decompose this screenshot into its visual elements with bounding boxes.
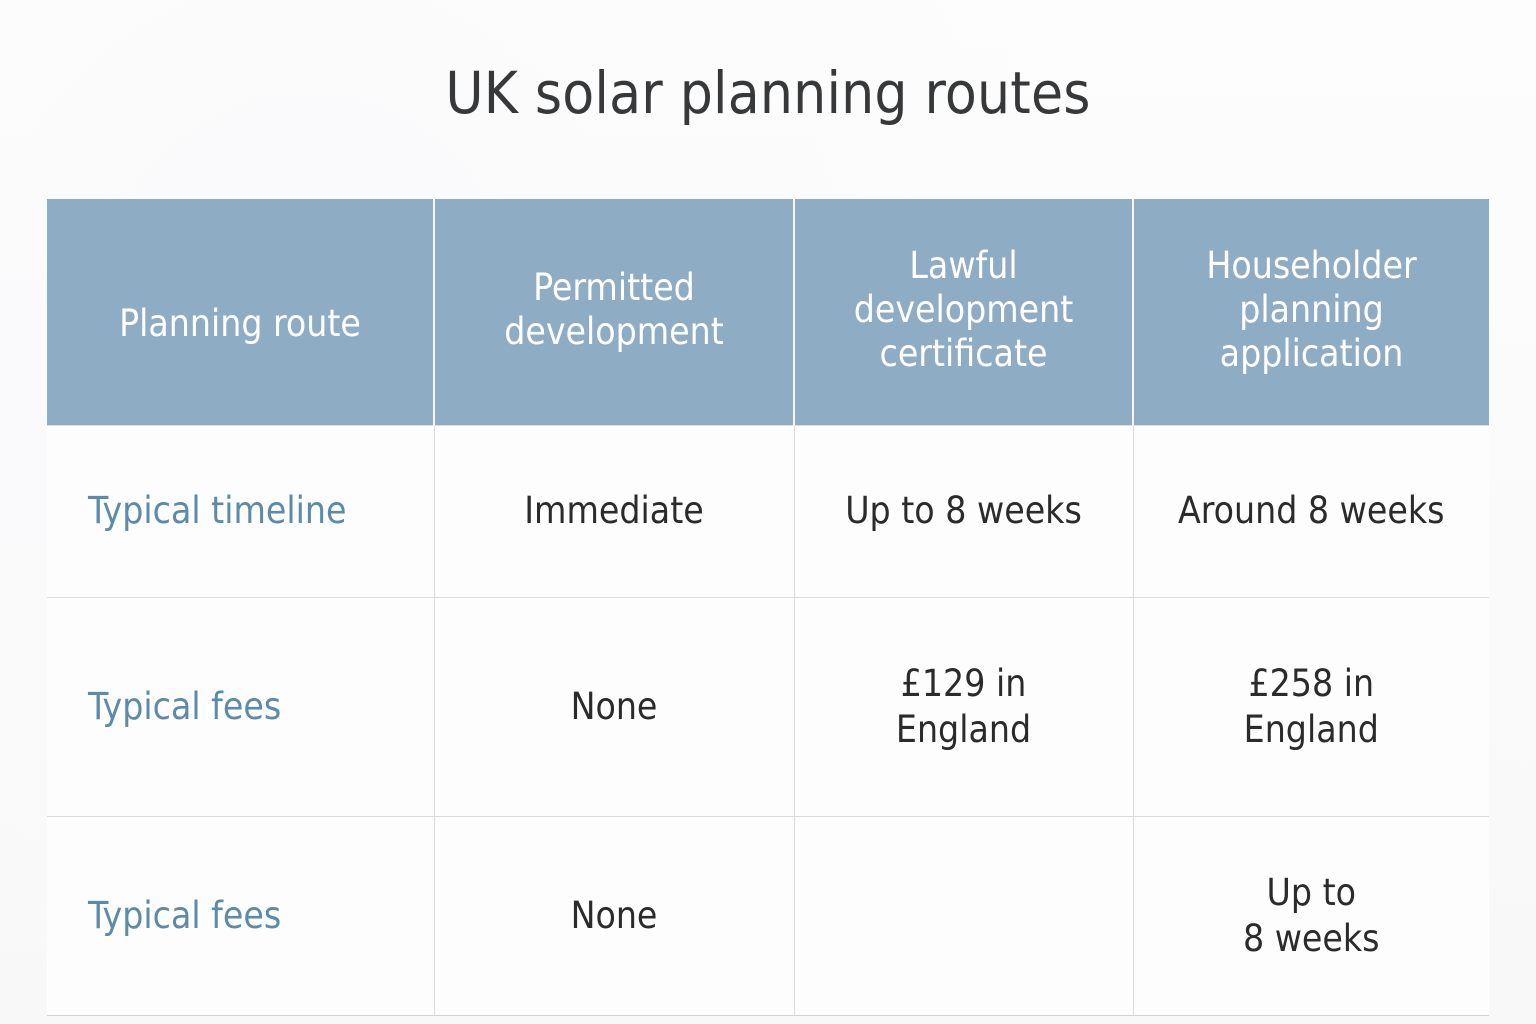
cell-fees2-permitted-development: None <box>434 816 794 1015</box>
cell-line: Up to <box>1146 870 1478 915</box>
column-header-line: Householder <box>1148 244 1475 288</box>
cell-line: 8 weeks <box>1146 916 1478 961</box>
column-header-line: development <box>809 288 1118 332</box>
cell-fees-permitted-development: None <box>434 597 794 816</box>
column-header-line: Lawful <box>809 244 1118 288</box>
cell-fees2-lawful-development-certificate-empty <box>794 816 1133 1015</box>
cell-timeline-householder-planning-application: Around 8 weeks <box>1133 425 1489 597</box>
cell-line: Around 8 weeks <box>1146 488 1478 533</box>
cell-line: £129 in <box>807 661 1121 706</box>
row-label-typical-fees-1: Typical fees <box>47 597 434 816</box>
column-header-line: development <box>449 310 779 354</box>
column-header-line: Permitted <box>449 266 779 310</box>
column-header-line: certificate <box>809 332 1118 376</box>
table-body: Typical timeline Immediate Up to 8 weeks… <box>47 425 1489 1015</box>
column-header-householder-planning-application: Householder planning application <box>1133 199 1489 425</box>
planning-routes-table-container: Planning route Permitted development Law… <box>47 199 1489 965</box>
column-header-line: Planning route <box>61 302 419 346</box>
cell-line: None <box>447 684 782 729</box>
cell-fees2-householder-planning-application: Up to 8 weeks <box>1133 816 1489 1015</box>
column-header-planning-route: Planning route <box>47 199 434 425</box>
cell-line: None <box>447 893 782 938</box>
cell-timeline-permitted-development: Immediate <box>434 425 794 597</box>
table-header-row: Planning route Permitted development Law… <box>47 199 1489 425</box>
column-header-line: application <box>1148 332 1475 376</box>
page-title: UK solar planning routes <box>0 62 1536 126</box>
cell-timeline-lawful-development-certificate: Up to 8 weeks <box>794 425 1133 597</box>
table-row: Typical fees None Up to 8 weeks <box>47 816 1489 1015</box>
cell-line: England <box>1146 707 1478 752</box>
column-header-line: planning <box>1148 288 1475 332</box>
planning-routes-table: Planning route Permitted development Law… <box>47 199 1489 1016</box>
column-header-permitted-development: Permitted development <box>434 199 794 425</box>
cell-line: £258 in <box>1146 661 1478 706</box>
column-header-lawful-development-certificate: Lawful development certificate <box>794 199 1133 425</box>
table-header: Planning route Permitted development Law… <box>47 199 1489 425</box>
table-row: Typical timeline Immediate Up to 8 weeks… <box>47 425 1489 597</box>
cell-line: England <box>807 707 1121 752</box>
cell-line: Up to 8 weeks <box>807 488 1121 533</box>
cell-line: Immediate <box>447 488 782 533</box>
table-row: Typical fees None £129 in England £258 i… <box>47 597 1489 816</box>
cell-fees-lawful-development-certificate: £129 in England <box>794 597 1133 816</box>
row-label-typical-fees-2: Typical fees <box>47 816 434 1015</box>
cell-fees-householder-planning-application: £258 in England <box>1133 597 1489 816</box>
row-label-typical-timeline: Typical timeline <box>47 425 434 597</box>
